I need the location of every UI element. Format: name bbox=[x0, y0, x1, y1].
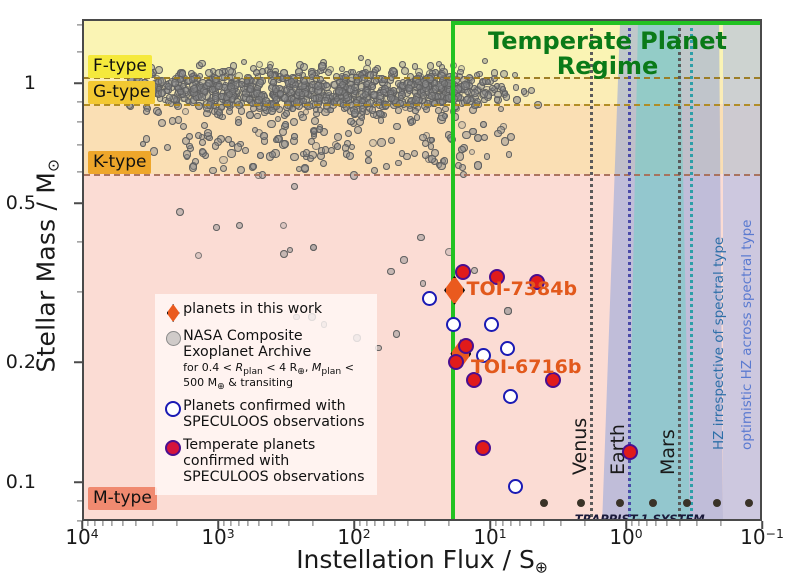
legend: planets in this workNASA Composite Exopl… bbox=[155, 294, 377, 495]
nasa-archive-point bbox=[299, 114, 307, 122]
nasa-archive-point bbox=[354, 78, 360, 84]
x-minor-tick bbox=[510, 521, 511, 526]
nasa-archive-point bbox=[445, 248, 453, 256]
x-minor-tick bbox=[95, 521, 96, 526]
x-minor-tick bbox=[530, 521, 531, 526]
spectral-boundary-line bbox=[84, 104, 760, 106]
nasa-archive-point bbox=[212, 142, 220, 150]
annotation-toi6716: TOI-6716b bbox=[471, 356, 582, 378]
x-minor-tick bbox=[360, 521, 361, 526]
nasa-archive-point bbox=[301, 164, 309, 172]
x-minor-tick bbox=[289, 521, 290, 526]
nasa-archive-point bbox=[281, 140, 289, 148]
nasa-archive-point bbox=[498, 106, 504, 112]
nasa-archive-point bbox=[183, 150, 191, 158]
nasa-archive-point bbox=[158, 89, 165, 96]
nasa-archive-point bbox=[198, 93, 205, 100]
nasa-archive-point bbox=[280, 69, 288, 77]
nasa-archive-point bbox=[270, 79, 276, 85]
nasa-archive-point bbox=[441, 80, 447, 86]
annotation-toi7384: TOI-7384b bbox=[467, 278, 578, 300]
nasa-archive-point bbox=[140, 141, 146, 147]
y-tick-label: 0.2 bbox=[0, 351, 36, 373]
nasa-archive-point bbox=[400, 256, 407, 263]
nasa-archive-point bbox=[388, 137, 395, 144]
nasa-archive-point bbox=[182, 108, 189, 115]
plot-area: F-typeG-typeK-typeM-type Temperate Plane… bbox=[82, 19, 762, 521]
nasa-archive-point bbox=[219, 156, 227, 164]
x-tick-mark bbox=[353, 521, 355, 529]
x-minor-tick bbox=[448, 521, 449, 526]
y-tick-label: 1 bbox=[0, 72, 36, 94]
x-tick-mark bbox=[625, 521, 627, 529]
nasa-archive-point bbox=[325, 90, 332, 97]
nasa-archive-point bbox=[226, 91, 233, 98]
nasa-archive-point bbox=[484, 153, 490, 159]
hz-label-optimistic: optimistic HZ across spectral type bbox=[739, 220, 755, 450]
nasa-archive-point bbox=[398, 95, 404, 101]
x-minor-tick bbox=[384, 521, 385, 526]
filled-red-circle-marker-glyph bbox=[165, 440, 181, 456]
nasa-archive-point bbox=[521, 88, 528, 95]
nasa-archive-point bbox=[417, 234, 424, 241]
x-minor-tick bbox=[224, 521, 225, 526]
nasa-archive-point bbox=[528, 87, 535, 94]
x-minor-tick bbox=[374, 521, 375, 526]
legend-item-label: Planets confirmed with SPECULOOS observa… bbox=[183, 399, 367, 431]
temperate-planet-marker bbox=[622, 444, 638, 460]
nasa-archive-point bbox=[481, 134, 488, 141]
x-minor-tick bbox=[639, 521, 640, 526]
trappist1-system-label: TRAPPIST-1 SYSTEM bbox=[575, 512, 705, 521]
nasa-archive-point bbox=[254, 113, 261, 120]
nasa-archive-point bbox=[383, 163, 390, 170]
x-minor-tick bbox=[88, 521, 89, 526]
nasa-archive-point bbox=[387, 94, 395, 102]
nasa-archive-point bbox=[237, 166, 245, 174]
nasa-archive-point bbox=[399, 61, 406, 68]
nasa-archive-point bbox=[273, 96, 280, 103]
nasa-archive-point bbox=[166, 94, 172, 100]
x-minor-tick bbox=[544, 521, 545, 526]
nasa-archive-point bbox=[506, 151, 513, 158]
legend-item-0: planets in this work bbox=[163, 302, 367, 322]
nasa-archive-point bbox=[369, 106, 376, 113]
nasa-archive-point bbox=[447, 134, 455, 142]
nasa-archive-point bbox=[365, 157, 372, 164]
nasa-archive-point bbox=[212, 95, 219, 102]
x-tick-mark bbox=[489, 521, 491, 529]
nasa-archive-point bbox=[242, 147, 248, 153]
legend-item-1: NASA Composite Exoplanet Archivefor 0.4 … bbox=[163, 329, 367, 392]
nasa-archive-point bbox=[411, 150, 418, 157]
nasa-archive-point bbox=[395, 160, 401, 166]
speculoos-planet-marker bbox=[422, 291, 437, 306]
nasa-archive-point bbox=[279, 128, 287, 136]
reference-label-mars: Mars bbox=[657, 429, 679, 475]
nasa-archive-point bbox=[291, 133, 298, 140]
nasa-archive-point bbox=[290, 118, 298, 126]
nasa-archive-point bbox=[318, 62, 326, 70]
nasa-archive-point bbox=[283, 110, 290, 117]
nasa-archive-point bbox=[442, 113, 448, 119]
nasa-archive-point bbox=[474, 161, 482, 169]
x-minor-tick bbox=[720, 521, 721, 526]
reference-label-venus: Venus bbox=[569, 418, 591, 475]
nasa-archive-point bbox=[186, 133, 193, 140]
nasa-archive-point bbox=[334, 143, 340, 149]
speculoos-planet-marker bbox=[500, 341, 515, 356]
diamond-marker bbox=[163, 302, 183, 322]
x-minor-tick bbox=[258, 521, 259, 526]
nasa-archive-point bbox=[158, 119, 166, 127]
speculoos-planet-marker bbox=[484, 317, 499, 332]
nasa-archive-point bbox=[428, 155, 435, 162]
nasa-archive-point bbox=[201, 122, 208, 129]
nasa-archive-point bbox=[199, 139, 206, 146]
nasa-archive-point bbox=[150, 147, 158, 155]
x-minor-tick bbox=[122, 521, 123, 526]
x-minor-tick bbox=[666, 521, 667, 526]
nasa-archive-point bbox=[480, 90, 487, 97]
nasa-archive-point bbox=[432, 85, 440, 93]
nasa-archive-point bbox=[456, 152, 464, 160]
nasa-archive-point bbox=[395, 107, 402, 114]
nasa-archive-point bbox=[377, 138, 385, 146]
nasa-archive-point bbox=[380, 89, 387, 96]
nasa-archive-point bbox=[257, 152, 264, 159]
x-minor-tick bbox=[176, 521, 177, 526]
gray-circle-marker-glyph bbox=[166, 331, 181, 346]
x-minor-tick bbox=[238, 521, 239, 526]
nasa-archive-point bbox=[250, 163, 257, 170]
x-minor-tick bbox=[680, 521, 681, 526]
nasa-archive-point bbox=[177, 89, 184, 96]
nasa-archive-point bbox=[190, 85, 198, 93]
nasa-archive-point bbox=[213, 224, 220, 231]
y-tick-mark bbox=[74, 361, 82, 363]
nasa-archive-point bbox=[343, 92, 350, 99]
nasa-archive-point bbox=[267, 64, 273, 70]
nasa-archive-point bbox=[290, 106, 296, 112]
x-minor-tick bbox=[112, 521, 113, 526]
nasa-archive-point bbox=[314, 82, 322, 90]
x-minor-tick bbox=[367, 521, 368, 526]
nasa-archive-point bbox=[205, 80, 212, 87]
nasa-archive-point bbox=[287, 247, 293, 253]
trappist1-planet-marker bbox=[540, 499, 548, 507]
nasa-archive-point bbox=[376, 110, 383, 117]
diamond-marker-glyph bbox=[167, 304, 180, 322]
temperate-planet-marker bbox=[458, 338, 474, 354]
y-tick-label: 0.1 bbox=[0, 471, 36, 493]
x-minor-tick bbox=[231, 521, 232, 526]
nasa-archive-point bbox=[347, 118, 354, 125]
open-blue-circle-marker bbox=[163, 399, 183, 417]
y-tick-mark bbox=[74, 203, 82, 205]
nasa-archive-point bbox=[204, 129, 212, 137]
spectral-boundary-line bbox=[84, 174, 760, 176]
nasa-archive-point bbox=[210, 68, 216, 74]
x-minor-tick bbox=[102, 521, 103, 526]
nasa-archive-point bbox=[246, 96, 253, 103]
nasa-archive-point bbox=[310, 244, 317, 251]
nasa-archive-point bbox=[320, 160, 327, 167]
spectral-pill-f-type: F-type bbox=[88, 55, 152, 78]
legend-item-3: Temperate planets confirmed with SPECULO… bbox=[163, 438, 367, 486]
speculoos-planet-marker bbox=[508, 479, 523, 494]
x-tick-mark bbox=[81, 521, 83, 529]
x-minor-tick bbox=[408, 521, 409, 526]
trappist1-planet-marker bbox=[683, 499, 691, 507]
legend-item-sublabel: for 0.4 < Rplan < 4 R⊕, Mplan < 500 M⊕ &… bbox=[183, 362, 367, 393]
x-minor-tick bbox=[561, 521, 562, 526]
conservative-hz-boundary-line bbox=[690, 21, 693, 521]
legend-item-label: NASA Composite Exoplanet Archive bbox=[183, 329, 367, 361]
nasa-archive-point bbox=[247, 85, 255, 93]
filled-red-circle-marker bbox=[163, 438, 183, 456]
nasa-archive-point bbox=[295, 68, 303, 76]
nasa-archive-point bbox=[215, 83, 223, 91]
nasa-archive-point bbox=[378, 117, 384, 123]
legend-item-label: planets in this work bbox=[183, 302, 322, 318]
temperate-planet-marker bbox=[475, 440, 491, 456]
legend-item-label: Temperate planets confirmed with SPECULO… bbox=[183, 438, 367, 486]
y-tick-mark bbox=[74, 482, 82, 484]
gray-circle-marker bbox=[163, 329, 183, 346]
temperate-regime-title: Temperate Planet Regime bbox=[451, 29, 762, 80]
nasa-archive-point bbox=[256, 61, 263, 68]
y-tick-mark bbox=[74, 83, 82, 85]
nasa-archive-point bbox=[259, 68, 266, 75]
nasa-archive-point bbox=[358, 55, 364, 61]
nasa-archive-point bbox=[350, 69, 356, 75]
nasa-archive-point bbox=[354, 126, 362, 134]
hz-label-irrespective: HZ irrespective of spectral type bbox=[711, 237, 727, 450]
nasa-archive-point bbox=[198, 60, 206, 68]
figure-root: Stellar Mass / M⊙ Instellation Flux / S⊕… bbox=[0, 0, 800, 586]
nasa-archive-point bbox=[494, 91, 501, 98]
nasa-archive-point bbox=[474, 134, 482, 142]
spectral-pill-g-type: G-type bbox=[88, 81, 155, 104]
x-minor-tick bbox=[153, 521, 154, 526]
x-minor-tick bbox=[425, 521, 426, 526]
x-minor-tick bbox=[136, 521, 137, 526]
nasa-archive-point bbox=[461, 81, 469, 89]
nasa-archive-point bbox=[216, 109, 223, 116]
nasa-archive-point bbox=[143, 108, 150, 115]
nasa-archive-point bbox=[291, 183, 298, 190]
nasa-archive-point bbox=[370, 91, 378, 99]
nasa-archive-point bbox=[442, 106, 448, 112]
nasa-archive-point bbox=[504, 307, 511, 314]
nasa-archive-point bbox=[458, 121, 466, 129]
nasa-archive-point bbox=[335, 87, 343, 95]
x-minor-tick bbox=[312, 521, 313, 526]
legend-item-2: Planets confirmed with SPECULOOS observa… bbox=[163, 399, 367, 431]
nasa-archive-point bbox=[441, 157, 449, 165]
nasa-archive-point bbox=[408, 119, 414, 125]
nasa-archive-point bbox=[393, 330, 400, 337]
nasa-archive-point bbox=[513, 84, 519, 90]
nasa-archive-point bbox=[254, 85, 261, 92]
trappist1-planet-marker bbox=[745, 499, 753, 507]
nasa-archive-point bbox=[403, 153, 411, 161]
spectral-pill-k-type: K-type bbox=[88, 151, 151, 174]
spectral-pill-m-type: M-type bbox=[88, 487, 157, 510]
x-minor-tick bbox=[646, 521, 647, 526]
x-minor-tick bbox=[503, 521, 504, 526]
open-blue-circle-marker-glyph bbox=[165, 401, 181, 417]
speculoos-planet-marker bbox=[446, 317, 461, 332]
nasa-archive-point bbox=[445, 94, 453, 102]
x-minor-tick bbox=[248, 521, 249, 526]
y-axis-label: Stellar Mass / M⊙ bbox=[31, 66, 62, 466]
x-minor-tick bbox=[272, 521, 273, 526]
nasa-archive-point bbox=[226, 108, 233, 115]
temperate-planet-marker bbox=[448, 354, 464, 370]
nasa-archive-point bbox=[169, 117, 176, 124]
nasa-archive-point bbox=[267, 120, 275, 128]
nasa-archive-point bbox=[268, 107, 276, 115]
nasa-archive-point bbox=[371, 167, 378, 174]
nasa-archive-point bbox=[234, 143, 242, 151]
x-minor-tick bbox=[520, 521, 521, 526]
nasa-archive-point bbox=[334, 133, 342, 141]
x-minor-tick bbox=[656, 521, 657, 526]
nasa-archive-point bbox=[316, 126, 323, 133]
x-minor-tick bbox=[584, 521, 585, 526]
x-minor-tick bbox=[496, 521, 497, 526]
x-axis-label: Instellation Flux / S⊕ bbox=[82, 545, 762, 576]
x-tick-mark bbox=[761, 521, 763, 529]
nasa-archive-point bbox=[189, 163, 197, 171]
nasa-archive-point bbox=[311, 95, 317, 101]
nasa-archive-point bbox=[349, 144, 355, 150]
x-minor-tick bbox=[632, 521, 633, 526]
x-minor-tick bbox=[697, 521, 698, 526]
x-tick-mark bbox=[217, 521, 219, 529]
nasa-archive-point bbox=[164, 144, 171, 151]
x-minor-tick bbox=[394, 521, 395, 526]
y-tick-label: 0.5 bbox=[0, 192, 36, 214]
